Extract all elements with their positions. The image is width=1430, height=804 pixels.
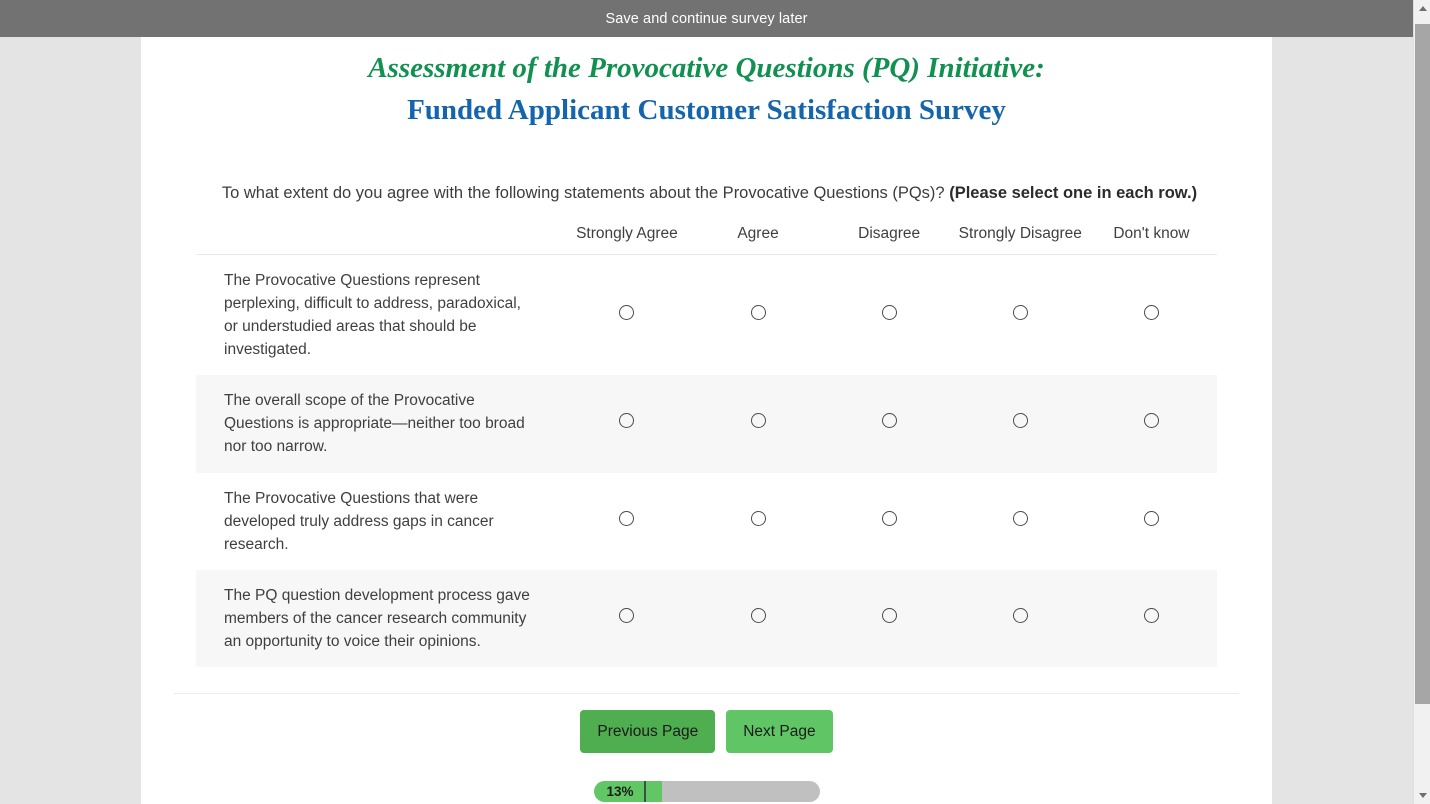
matrix-statement-1: The Provocative Questions represent perp… [196, 254, 561, 375]
matrix-header-strongly-disagree: Strongly Disagree [955, 223, 1086, 255]
radio-r4-disagree[interactable] [882, 608, 897, 623]
navigation-divider [174, 693, 1239, 694]
matrix-statement-4: The PQ question development process gave… [196, 570, 561, 667]
matrix-cell-r3-disagree[interactable] [824, 473, 955, 570]
matrix-cell-r2-agree[interactable] [692, 375, 823, 472]
matrix-cell-r4-strongly-agree[interactable] [561, 570, 692, 667]
navigation-buttons: Previous Page Next Page [141, 710, 1272, 753]
previous-page-button[interactable]: Previous Page [580, 710, 715, 753]
table-row: The PQ question development process gave… [196, 570, 1217, 667]
matrix-cell-r1-strongly-agree[interactable] [561, 254, 692, 375]
matrix-header-row: Strongly Agree Agree Disagree Strongly D… [196, 223, 1217, 255]
radio-r4-agree[interactable] [751, 608, 766, 623]
matrix-cell-r1-dont-know[interactable] [1086, 254, 1217, 375]
page-scrollbar[interactable] [1413, 0, 1430, 804]
table-row: The Provocative Questions represent perp… [196, 254, 1217, 375]
progress-percent-label: 13% [607, 781, 634, 802]
radio-r4-dont-know[interactable] [1144, 608, 1159, 623]
scrollbar-thumb[interactable] [1415, 24, 1430, 704]
next-page-button[interactable]: Next Page [726, 710, 832, 753]
survey-panel: Assessment of the Provocative Questions … [141, 37, 1272, 804]
radio-r1-dont-know[interactable] [1144, 305, 1159, 320]
survey-title-block: Assessment of the Provocative Questions … [141, 37, 1272, 131]
radio-r3-dont-know[interactable] [1144, 511, 1159, 526]
matrix-header: Strongly Agree Agree Disagree Strongly D… [196, 223, 1217, 255]
radio-r2-dont-know[interactable] [1144, 413, 1159, 428]
scroll-down-arrow-icon[interactable] [1414, 787, 1430, 804]
save-and-continue-bar[interactable]: Save and continue survey later [0, 0, 1413, 37]
matrix-cell-r2-strongly-agree[interactable] [561, 375, 692, 472]
radio-r2-agree[interactable] [751, 413, 766, 428]
matrix-header-disagree: Disagree [824, 223, 955, 255]
survey-progress-bar: 13% [594, 781, 820, 802]
matrix-header-strongly-agree: Strongly Agree [561, 223, 692, 255]
radio-r1-strongly-agree[interactable] [619, 305, 634, 320]
matrix-cell-r1-disagree[interactable] [824, 254, 955, 375]
radio-r3-strongly-disagree[interactable] [1013, 511, 1028, 526]
table-row: The overall scope of the Provocative Que… [196, 375, 1217, 472]
matrix-cell-r4-strongly-disagree[interactable] [955, 570, 1086, 667]
radio-r1-strongly-disagree[interactable] [1013, 305, 1028, 320]
table-row: The Provocative Questions that were deve… [196, 473, 1217, 570]
matrix-cell-r2-strongly-disagree[interactable] [955, 375, 1086, 472]
survey-title-secondary: Funded Applicant Customer Satisfaction S… [141, 89, 1272, 131]
matrix-cell-r2-disagree[interactable] [824, 375, 955, 472]
browser-viewport: Save and continue survey later Assessmen… [0, 0, 1430, 804]
save-and-continue-label[interactable]: Save and continue survey later [605, 11, 807, 27]
matrix-cell-r3-strongly-disagree[interactable] [955, 473, 1086, 570]
scroll-up-arrow-icon[interactable] [1414, 0, 1430, 17]
matrix-statement-3: The Provocative Questions that were deve… [196, 473, 561, 570]
question-prompt-instruction: (Please select one in each row.) [949, 184, 1197, 202]
matrix-cell-r1-agree[interactable] [692, 254, 823, 375]
survey-title-primary: Assessment of the Provocative Questions … [141, 47, 1272, 89]
radio-r3-agree[interactable] [751, 511, 766, 526]
matrix-cell-r4-disagree[interactable] [824, 570, 955, 667]
matrix-cell-r3-dont-know[interactable] [1086, 473, 1217, 570]
matrix-header-dont-know: Don't know [1086, 223, 1217, 255]
radio-r2-strongly-disagree[interactable] [1013, 413, 1028, 428]
matrix-cell-r3-agree[interactable] [692, 473, 823, 570]
radio-r2-disagree[interactable] [882, 413, 897, 428]
question-prompt: To what extent do you agree with the fol… [141, 183, 1272, 204]
matrix-cell-r4-agree[interactable] [692, 570, 823, 667]
matrix-question-wrapper: Strongly Agree Agree Disagree Strongly D… [196, 223, 1217, 668]
matrix-cell-r4-dont-know[interactable] [1086, 570, 1217, 667]
matrix-cell-r1-strongly-disagree[interactable] [955, 254, 1086, 375]
radio-r4-strongly-disagree[interactable] [1013, 608, 1028, 623]
matrix-cell-r3-strongly-agree[interactable] [561, 473, 692, 570]
matrix-body: The Provocative Questions represent perp… [196, 254, 1217, 667]
question-prompt-text: To what extent do you agree with the fol… [222, 184, 945, 202]
radio-r2-strongly-agree[interactable] [619, 413, 634, 428]
matrix-statement-2: The overall scope of the Provocative Que… [196, 375, 561, 472]
radio-r1-agree[interactable] [751, 305, 766, 320]
radio-r1-disagree[interactable] [882, 305, 897, 320]
matrix-header-statement [196, 223, 561, 255]
radio-r3-strongly-agree[interactable] [619, 511, 634, 526]
radio-r4-strongly-agree[interactable] [619, 608, 634, 623]
matrix-header-agree: Agree [692, 223, 823, 255]
matrix-question-table: Strongly Agree Agree Disagree Strongly D… [196, 223, 1217, 668]
radio-r3-disagree[interactable] [882, 511, 897, 526]
progress-tick [644, 781, 646, 802]
matrix-cell-r2-dont-know[interactable] [1086, 375, 1217, 472]
